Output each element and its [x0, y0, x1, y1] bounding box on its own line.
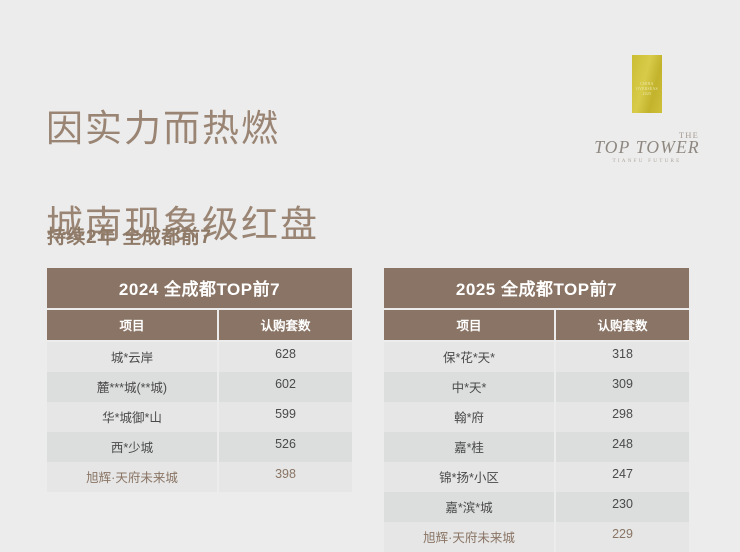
cell-project: 麓***城(**城) [47, 372, 217, 402]
brand-name-label: TOP TOWER [591, 138, 703, 157]
brand-logo: CHINA OVERSEAS 2025 THE TOP TOWER TIANFU… [591, 55, 703, 164]
table-row: 西*少城 526 [47, 432, 352, 462]
cell-units: 247 [554, 462, 689, 492]
table-row: 嘉*滨*城 230 [384, 492, 689, 522]
cell-project: 嘉*滨*城 [384, 492, 554, 522]
column-header-project: 项目 [384, 310, 554, 340]
column-header-project: 项目 [47, 310, 217, 340]
cell-units: 602 [217, 372, 352, 402]
headline-line-1: 因实力而热燃 [46, 106, 319, 154]
cell-project: 西*少城 [47, 432, 217, 462]
cell-project: 嘉*桂 [384, 432, 554, 462]
table-2024: 2024 全成都TOP前7 项目 认购套数 城*云岸 628 麓***城(**城… [47, 268, 352, 552]
cell-project: 华*城御*山 [47, 402, 217, 432]
table-row: 中*天* 309 [384, 372, 689, 402]
cell-project: 旭辉·天府未来城 [47, 462, 217, 492]
table-column-header: 项目 认购套数 [47, 310, 352, 340]
cell-project: 城*云岸 [47, 340, 217, 372]
table-row: 保*花*天* 318 [384, 340, 689, 372]
cell-units: 248 [554, 432, 689, 462]
section-subheading: 持续2年 全成都前7 [47, 222, 211, 249]
cell-units: 628 [217, 340, 352, 372]
cell-project: 中*天* [384, 372, 554, 402]
ranking-tables: 2024 全成都TOP前7 项目 认购套数 城*云岸 628 麓***城(**城… [0, 268, 740, 552]
cell-units: 526 [217, 432, 352, 462]
table-2025: 2025 全成都TOP前7 项目 认购套数 保*花*天* 318 中*天* 30… [384, 268, 689, 552]
cell-units: 599 [217, 402, 352, 432]
table-row: 城*云岸 628 [47, 340, 352, 372]
page-title: 因实力而热燃 城南现象级红盘 [46, 58, 319, 298]
cell-project: 翰*府 [384, 402, 554, 432]
table-row: 嘉*桂 248 [384, 432, 689, 462]
table-row: 华*城御*山 599 [47, 402, 352, 432]
cell-project: 锦*扬*小区 [384, 462, 554, 492]
cell-units: 309 [554, 372, 689, 402]
column-header-units: 认购套数 [554, 310, 689, 340]
cell-units: 318 [554, 340, 689, 372]
hero-section: 因实力而热燃 城南现象级红盘 CHINA OVERSEAS 2025 THE T… [0, 0, 740, 200]
cell-units: 230 [554, 492, 689, 522]
gold-logo-mark-icon: CHINA OVERSEAS 2025 [632, 55, 662, 113]
column-header-units: 认购套数 [217, 310, 352, 340]
cell-units: 298 [554, 402, 689, 432]
brand-tagline: TIANFU FUTURE [591, 158, 703, 164]
logo-mark-text: CHINA OVERSEAS 2025 [632, 82, 662, 97]
table-title: 2025 全成都TOP前7 [384, 268, 689, 308]
table-row-highlighted: 旭辉·天府未来城 398 [47, 462, 352, 492]
table-title: 2024 全成都TOP前7 [47, 268, 352, 308]
cell-project: 保*花*天* [384, 340, 554, 372]
table-row: 麓***城(**城) 602 [47, 372, 352, 402]
table-column-header: 项目 认购套数 [384, 310, 689, 340]
cell-units: 398 [217, 462, 352, 492]
table-row: 锦*扬*小区 247 [384, 462, 689, 492]
table-row: 翰*府 298 [384, 402, 689, 432]
